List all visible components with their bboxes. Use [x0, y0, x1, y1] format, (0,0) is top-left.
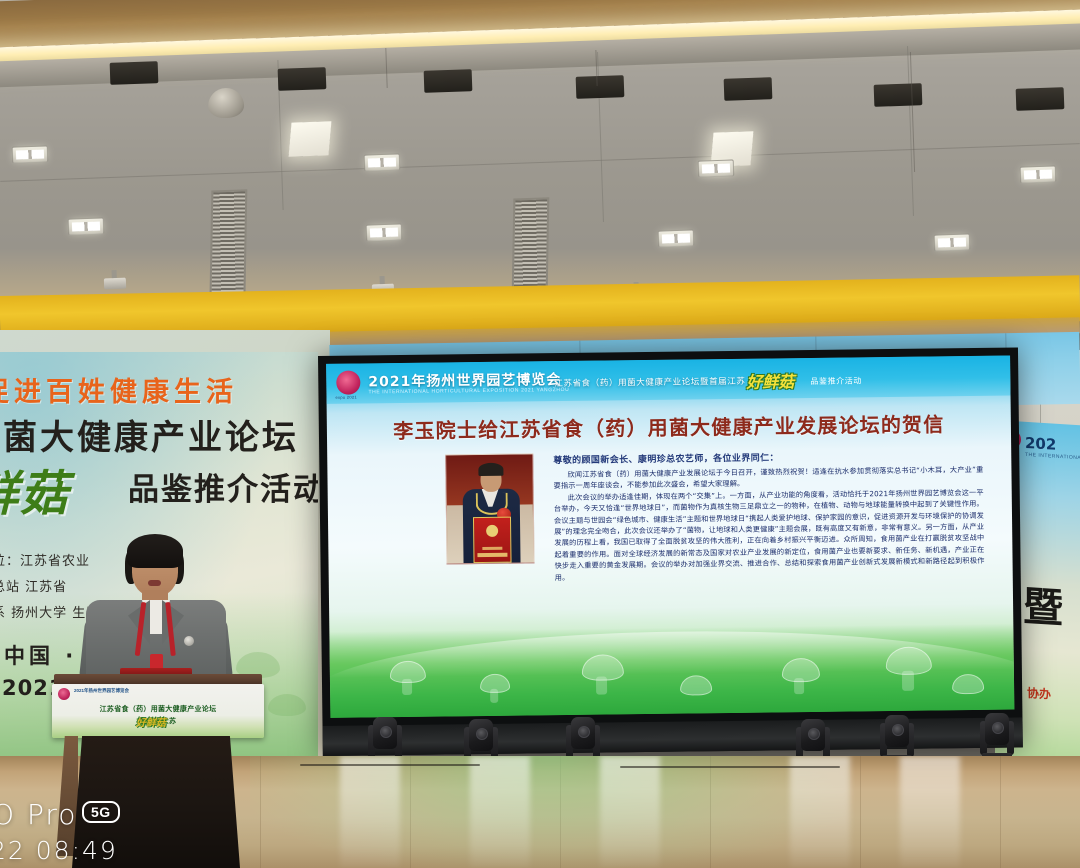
speaker-hair [127, 534, 183, 568]
ceiling-spotlight [104, 278, 126, 290]
ceiling [0, 0, 1080, 318]
ceiling-downlight [366, 223, 403, 241]
expo-logo-caption: expo 2021 [335, 395, 356, 400]
mushroom-stem-graphic [794, 678, 804, 694]
slide-subtitle: 江苏省食（药）用菌大健康产业论坛暨首届江苏 [554, 375, 745, 389]
slide-paragraph: 此次会议的举办适逢佳期，体现在两个“交集”上。一方面，从产业功能的角度看，活动恰… [554, 487, 985, 583]
podium-sign-line1: 江苏省食（药）用菌大健康产业论坛 [52, 704, 264, 714]
speaker-lapel-pin-icon [184, 636, 194, 646]
floor-light-reflection [600, 756, 660, 868]
floor-light-reflection [900, 756, 960, 868]
ceiling-vent [424, 69, 473, 93]
camera-watermark-network-badge: 5G [82, 801, 120, 823]
slide-subtitle-after: 品鉴推介活动 [810, 375, 862, 387]
backdrop-subtitle: 品鉴推介活动 [128, 464, 318, 509]
slide-green-footer [329, 624, 1014, 718]
ceiling-downlight [364, 153, 401, 171]
certificate-emblem-icon [486, 525, 498, 537]
ceiling-vent [724, 77, 773, 101]
backdrop-forum-title: 用菌大健康产业论坛 [0, 410, 318, 459]
expo-logo-icon [58, 688, 70, 700]
ceiling-vent [576, 75, 625, 99]
photo-scene: 促进百姓健康生活 用菌大健康产业论坛 鲜菇 品鉴推介活动 办单位：江苏省农业 推… [0, 0, 1080, 868]
slide-body-text: 欣闻江苏省食（药）用菌大健康产业发展论坛于今日召开，谨致热烈祝贺！适逢在抗水参加… [553, 464, 984, 583]
ceiling-vent [1016, 87, 1065, 111]
portrait-hair [478, 463, 503, 476]
ceiling-seam [0, 143, 1079, 182]
ceiling-downlight [698, 159, 735, 177]
backdrop-slogan-orange: 促进百姓健康生活 [0, 370, 318, 409]
expo-logo-icon [336, 370, 360, 394]
floor-light-reflection [790, 756, 850, 868]
ceiling-downlight [1020, 165, 1057, 183]
mushroom-stem-graphic [596, 676, 607, 694]
backdrop-right-big-char: 暨 [1023, 574, 1063, 634]
portrait-certificate [473, 517, 512, 563]
slide-title: 李玉院士给江苏省食（药）用菌大健康产业发展论坛的贺信 [327, 408, 1011, 445]
mushroom-graphic [268, 694, 306, 716]
floor-light-reflection [340, 756, 400, 868]
speaker-mouth [148, 580, 161, 586]
mushroom-stem-graphic [402, 679, 412, 695]
presentation-slide: expo 2021 2021年扬州世界园艺博览会 THE INTERNATION… [326, 356, 1014, 718]
slide-greeting: 尊敬的顾国新会长、康明珍总农艺师，各位业界同仁： [553, 450, 779, 466]
camera-watermark-timestamp: 22 08:49 [0, 836, 118, 865]
academician-portrait-photo [445, 453, 534, 564]
mushroom-stem-graphic [902, 671, 914, 691]
ceiling-vent [874, 83, 923, 107]
backdrop-right-year: 202 [1025, 434, 1056, 454]
podium-sign-brand: 好鲜菇 [136, 714, 166, 729]
slide-expo-name-en: THE INTERNATIONAL HORTICULTURAL EXPOSITI… [368, 387, 569, 395]
stage-cable [300, 764, 480, 766]
certificate-text-line [477, 553, 507, 557]
mushroom-stem-graphic [490, 689, 498, 703]
ceiling-downlight [658, 229, 695, 247]
ceiling-panel-light [289, 121, 332, 157]
slide-brand-logo: 好鲜菇 [746, 368, 794, 393]
dome-camera-icon [207, 87, 244, 118]
stage-cable [620, 766, 840, 768]
podium-sign: 2021年扬州世界园艺博览会 江苏省食（药）用菌大健康产业论坛 暨首届江苏 好鲜… [52, 684, 264, 738]
slide-header-band: expo 2021 2021年扬州世界园艺博览会 THE INTERNATION… [326, 356, 1010, 404]
backdrop-brand-logo: 鲜菇 [0, 454, 70, 524]
ceiling-downlight [68, 217, 105, 235]
led-screen: expo 2021 2021年扬州世界园艺博览会 THE INTERNATION… [318, 347, 1023, 756]
ceiling-downlight [12, 145, 49, 163]
podium-sign-expo: 2021年扬州世界园艺博览会 [74, 688, 129, 694]
camera-watermark-model: O Pro [0, 798, 77, 831]
ceiling-downlight [934, 233, 971, 251]
backdrop-right-year-sub: THE INTERNATIONAL HORTICULTURAL EXPOSITI… [1025, 452, 1080, 467]
led-screen-base [323, 717, 1023, 756]
floor-light-reflection [470, 756, 530, 868]
certificate-text-line [482, 547, 502, 550]
backdrop-right-red-text: 协办 [1027, 684, 1051, 702]
ceiling-vent [110, 61, 159, 85]
ceiling-vent [278, 67, 327, 91]
